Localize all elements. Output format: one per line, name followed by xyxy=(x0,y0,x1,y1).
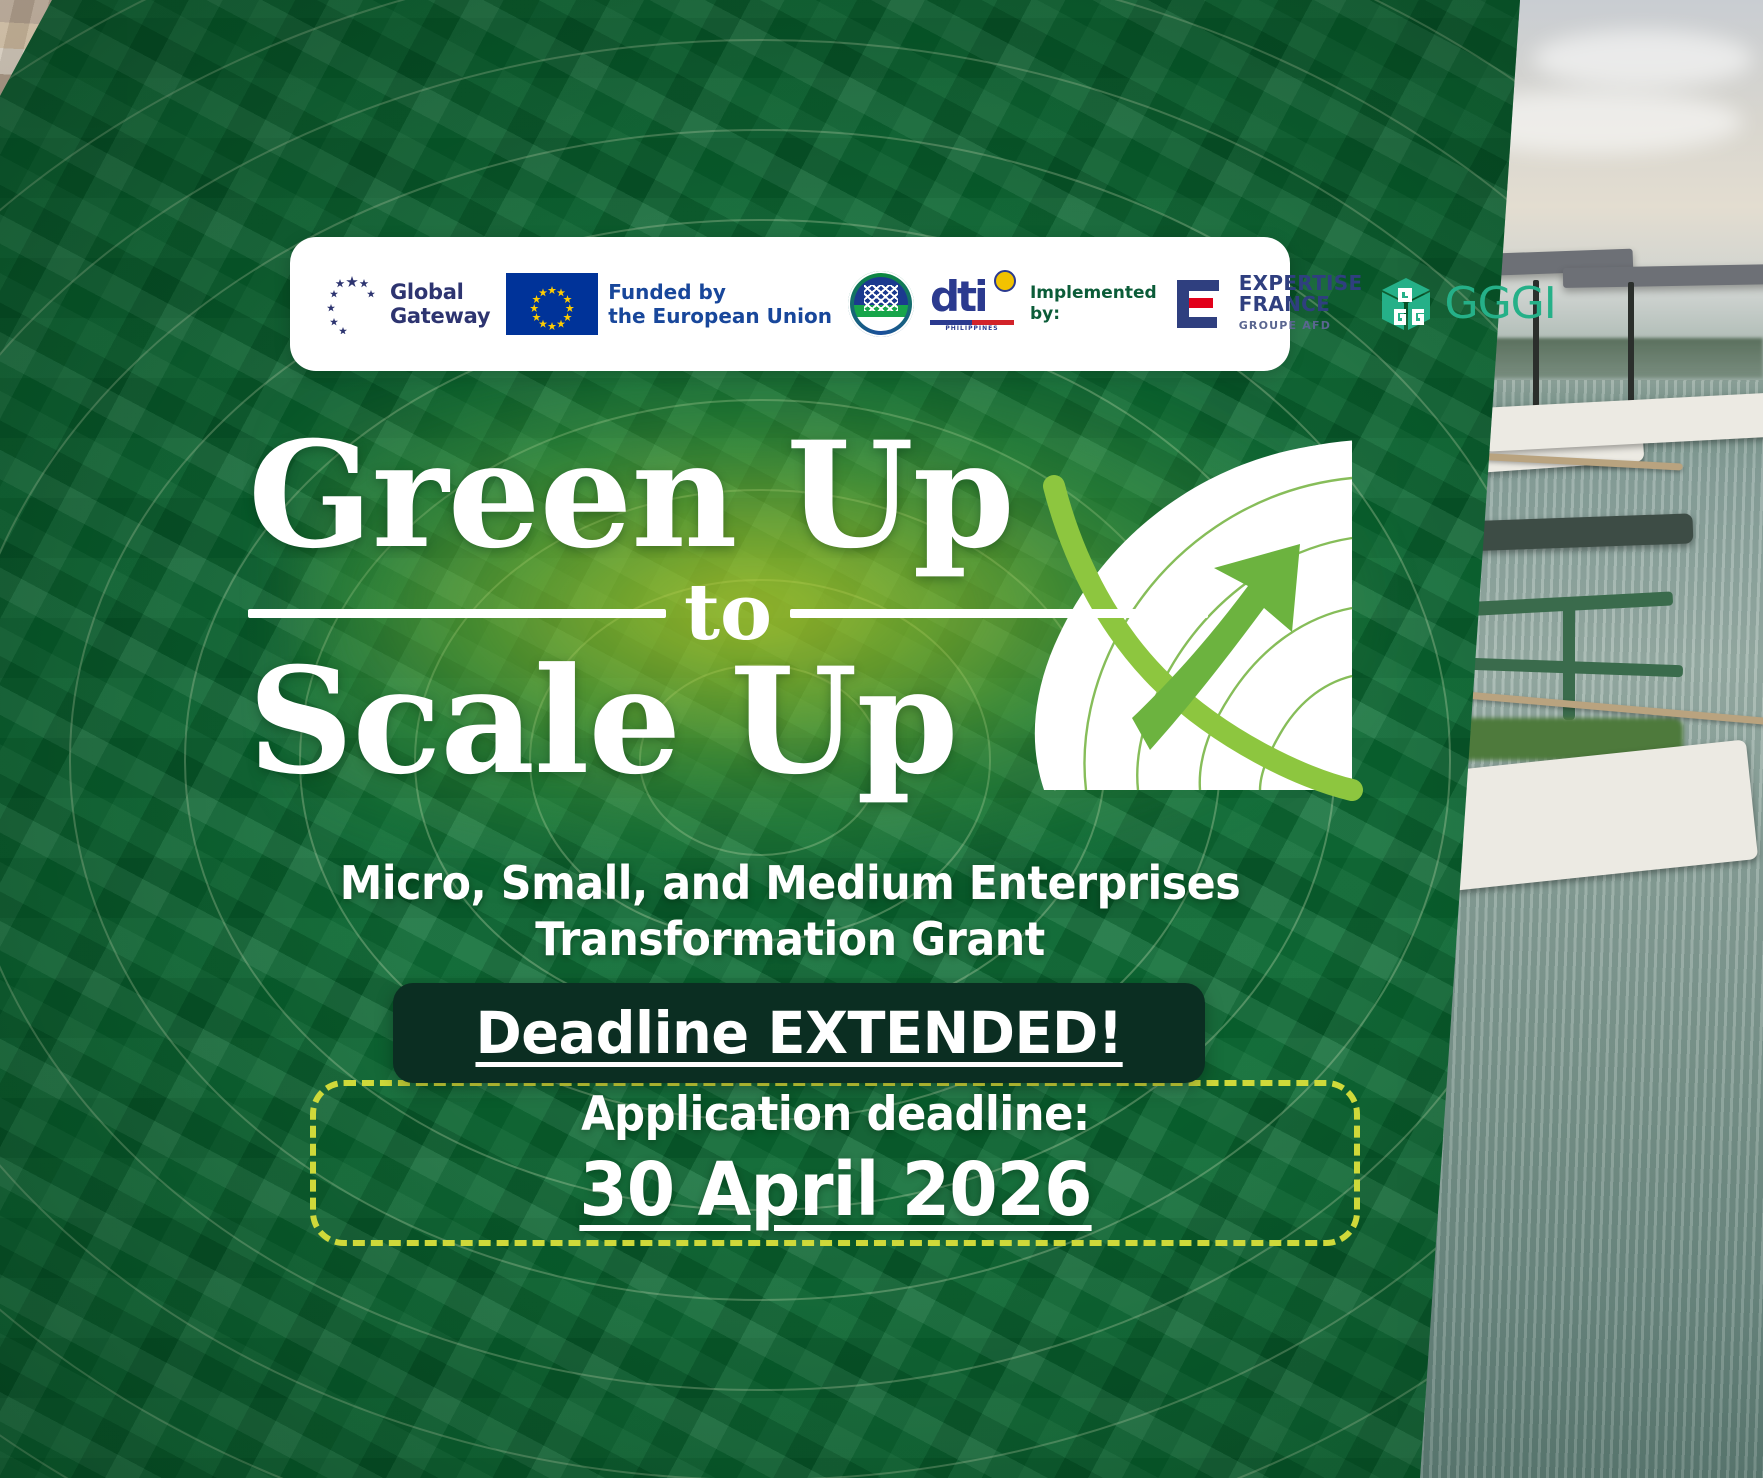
eu-flag-icon xyxy=(506,273,598,335)
logo-gggi: GGGI xyxy=(1378,276,1555,332)
expertise-france-line1: EXPERTISE xyxy=(1239,273,1363,294)
logo-european-union: Funded by the European Union xyxy=(506,273,832,335)
logo-expertise-france: EXPERTISE FRANCE GROUPE AFD xyxy=(1173,273,1363,336)
implemented-by-line2: by: xyxy=(1030,304,1157,325)
headline-green-up-to-scale-up: Green Up to Scale Up xyxy=(248,430,1208,790)
eu-stars-arc-icon xyxy=(326,274,380,334)
deadline-extended-text: Deadline EXTENDED! xyxy=(475,1003,1122,1063)
logo-denr xyxy=(848,271,914,337)
headline-line-2: Scale Up xyxy=(248,654,1208,790)
headline-line-1: Green Up xyxy=(248,430,1208,562)
logo-dti: dti PHILIPPINES xyxy=(930,276,1014,332)
eu-funded-line2: the European Union xyxy=(608,304,832,328)
gggi-cube-icon xyxy=(1378,276,1434,332)
implemented-by-line1: Implemented xyxy=(1030,283,1157,304)
application-deadline-block: Application deadline: 30 April 2026 xyxy=(310,1085,1360,1233)
global-gateway-line2: Gateway xyxy=(390,304,490,328)
headline-rule-left xyxy=(248,609,666,618)
expertise-france-line2: FRANCE xyxy=(1239,294,1363,315)
gggi-wordmark: GGGI xyxy=(1444,282,1555,326)
headline-rule-right xyxy=(790,609,1208,618)
poster-canvas: Global Gateway xyxy=(0,0,1763,1478)
application-deadline-date: 30 April 2026 xyxy=(579,1147,1091,1233)
global-gateway-line1: Global xyxy=(390,280,490,304)
expertise-france-mark-icon xyxy=(1173,276,1229,332)
partner-logo-bar: Global Gateway xyxy=(290,237,1290,371)
dti-globe-icon xyxy=(994,270,1016,292)
expertise-france-sub: GROUPE AFD xyxy=(1239,315,1363,336)
subtitle-line-2: Transformation Grant xyxy=(269,911,1311,967)
implemented-by-label-group: Implemented by: xyxy=(1030,283,1157,325)
dti-sub-label: PHILIPPINES xyxy=(930,325,1014,332)
subtitle-line-1: Micro, Small, and Medium Enterprises xyxy=(269,855,1311,911)
logo-global-gateway: Global Gateway xyxy=(326,274,490,334)
eu-funded-line1: Funded by xyxy=(608,280,832,304)
program-subtitle: Micro, Small, and Medium Enterprises Tra… xyxy=(269,855,1311,967)
denr-seal-icon xyxy=(848,271,914,337)
deadline-extended-badge: Deadline EXTENDED! xyxy=(393,983,1205,1083)
application-deadline-label: Application deadline: xyxy=(581,1085,1090,1145)
